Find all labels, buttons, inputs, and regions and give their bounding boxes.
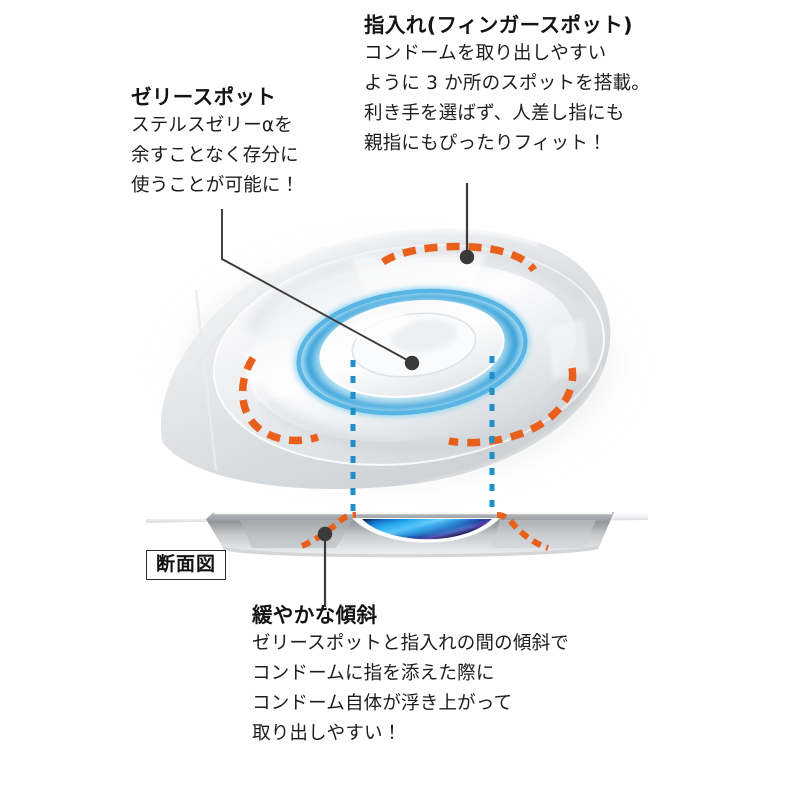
callout-gentle-slope-line-2: コンドームに指を添えた際に — [252, 659, 569, 689]
callout-jelly-spot-line-3: 使うことが可能に！ — [131, 171, 299, 201]
callout-finger-spot: 指入れ(フィンガースポット) コンドームを取り出しやすい ように 3 か所のスポ… — [364, 12, 650, 159]
callout-finger-spot-title: 指入れ(フィンガースポット) — [364, 12, 650, 39]
callout-gentle-slope-body: ゼリースポットと指入れの間の傾斜で コンドームに指を添えた際に コンドーム自体が… — [252, 629, 569, 749]
callout-gentle-slope: 緩やかな傾斜 ゼリースポットと指入れの間の傾斜で コンドームに指を添えた際に コ… — [252, 602, 569, 749]
callout-finger-spot-line-3: 利き手を選ばず、人差し指にも — [364, 99, 650, 129]
callout-jelly-spot-line-1: ステルスゼリーαを — [131, 111, 299, 141]
callout-gentle-slope-line-3: コンドーム自体が浮き上がって — [252, 689, 569, 719]
callout-jelly-spot-body: ステルスゼリーαを 余すことなく存分に 使うことが可能に！ — [131, 111, 299, 201]
cross-section-label: 断面図 — [146, 550, 226, 580]
callout-finger-spot-line-2: ように 3 か所のスポットを搭載。 — [364, 69, 650, 99]
callout-finger-spot-body: コンドームを取り出しやすい ように 3 か所のスポットを搭載。 利き手を選ばず、… — [364, 39, 650, 159]
callout-gentle-slope-line-1: ゼリースポットと指入れの間の傾斜で — [252, 629, 569, 659]
callout-finger-spot-line-4: 親指にもぴったりフィット！ — [364, 129, 650, 159]
callout-gentle-slope-title: 緩やかな傾斜 — [252, 602, 569, 629]
callout-jelly-spot: ゼリースポット ステルスゼリーαを 余すことなく存分に 使うことが可能に！ — [131, 84, 299, 201]
infographic-canvas: ゼリースポット ステルスゼリーαを 余すことなく存分に 使うことが可能に！ 指入… — [0, 0, 800, 800]
callout-gentle-slope-line-4: 取り出しやすい！ — [252, 719, 569, 749]
callout-jelly-spot-title: ゼリースポット — [131, 84, 299, 111]
leader-dot-jelly-spot — [405, 356, 419, 370]
leader-dot-finger-spot — [460, 250, 474, 264]
callout-finger-spot-line-1: コンドームを取り出しやすい — [364, 39, 650, 69]
callout-jelly-spot-line-2: 余すことなく存分に — [131, 141, 299, 171]
leader-dot-gentle-slope — [318, 527, 332, 541]
